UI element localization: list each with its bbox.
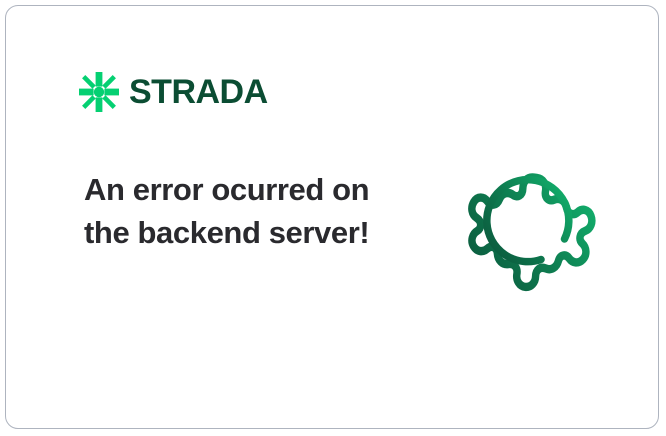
- brand-logo: STRADA: [79, 72, 268, 112]
- error-card: STRADA An error ocurred on the backend s…: [5, 5, 659, 429]
- gear-icon: [449, 142, 613, 310]
- error-message: An error ocurred on the backend server!: [84, 168, 384, 254]
- strada-asterisk-icon: [79, 72, 119, 112]
- brand-wordmark: STRADA: [129, 75, 268, 109]
